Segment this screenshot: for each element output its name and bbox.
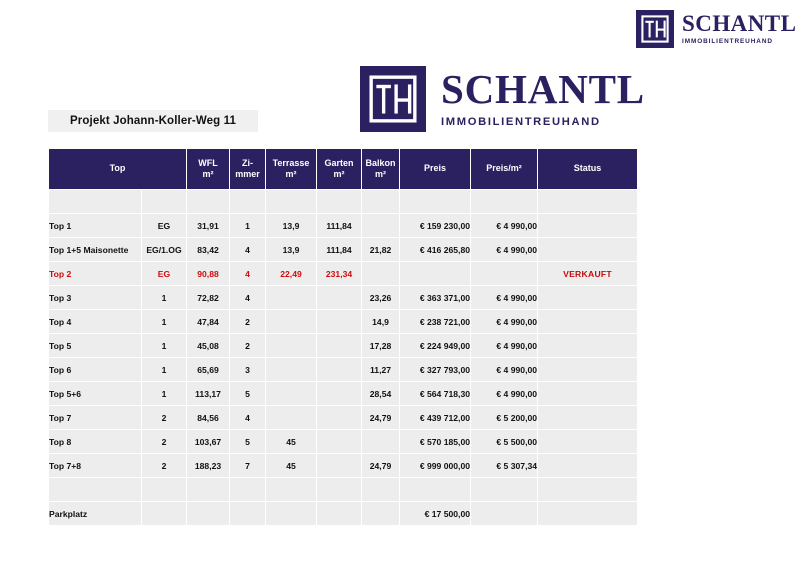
cell-terrasse: 45 bbox=[266, 454, 316, 477]
cell-preis: € 238 721,00 bbox=[400, 310, 470, 333]
cell-terrasse bbox=[266, 334, 316, 357]
table-body: Top 1EG31,91113,9111,84€ 159 230,00€ 4 9… bbox=[49, 190, 637, 525]
cell-zimmer: 4 bbox=[230, 238, 265, 261]
cell-terrasse bbox=[266, 358, 316, 381]
column-header-wfl-line1: WFL bbox=[198, 158, 218, 168]
cell-wfl: 45,08 bbox=[187, 334, 229, 357]
cell-top: Top 2 bbox=[49, 262, 141, 285]
cell-zimmer: 2 bbox=[230, 310, 265, 333]
cell-top: Top 4 bbox=[49, 310, 141, 333]
cell-top: Top 1+5 Maisonette bbox=[49, 238, 141, 261]
cell-wfl bbox=[187, 502, 229, 525]
cell-zimmer: 3 bbox=[230, 358, 265, 381]
cell-status bbox=[538, 190, 637, 213]
cell-zimmer: 5 bbox=[230, 430, 265, 453]
table-row: Top 1EG31,91113,9111,84€ 159 230,00€ 4 9… bbox=[49, 214, 637, 237]
column-header-terrasse-line1: Terrasse bbox=[273, 158, 310, 168]
cell-floor: 1 bbox=[142, 334, 186, 357]
cell-floor: 2 bbox=[142, 406, 186, 429]
cell-floor: EG/1.OG bbox=[142, 238, 186, 261]
cell-top: Top 6 bbox=[49, 358, 141, 381]
cell-floor: EG bbox=[142, 214, 186, 237]
cell-top: Top 1 bbox=[49, 214, 141, 237]
cell-preis-qm: € 5 500,00 bbox=[471, 430, 537, 453]
cell-preis: € 439 712,00 bbox=[400, 406, 470, 429]
cell-preis-qm: € 4 990,00 bbox=[471, 286, 537, 309]
column-header-garten-line2: m² bbox=[334, 169, 345, 179]
cell-wfl: 83,42 bbox=[187, 238, 229, 261]
cell-balkon bbox=[362, 430, 399, 453]
cell-balkon bbox=[362, 262, 399, 285]
cell-zimmer: 4 bbox=[230, 406, 265, 429]
cell-wfl: 65,69 bbox=[187, 358, 229, 381]
cell-terrasse bbox=[266, 190, 316, 213]
cell-terrasse bbox=[266, 310, 316, 333]
cell-top: Parkplatz bbox=[49, 502, 141, 525]
cell-status bbox=[538, 310, 637, 333]
cell-balkon: 14,9 bbox=[362, 310, 399, 333]
cell-preis-qm: € 5 307,34 bbox=[471, 454, 537, 477]
cell-garten: 111,84 bbox=[317, 214, 361, 237]
cell-floor bbox=[142, 502, 186, 525]
table-row: Top 3172,82423,26€ 363 371,00€ 4 990,00 bbox=[49, 286, 637, 309]
cell-zimmer: 5 bbox=[230, 382, 265, 405]
column-header-terrasse: Terrasse m² bbox=[266, 149, 316, 189]
logo-schantl-center: SCHANTL IMMOBILIENTREUHAND bbox=[360, 66, 645, 132]
column-header-balkon-line1: Balkon bbox=[366, 158, 396, 168]
cell-wfl: 84,56 bbox=[187, 406, 229, 429]
cell-balkon bbox=[362, 478, 399, 501]
cell-garten: 231,34 bbox=[317, 262, 361, 285]
cell-top bbox=[49, 478, 141, 501]
cell-zimmer bbox=[230, 478, 265, 501]
table-spacer-row bbox=[49, 190, 637, 213]
cell-preis-qm: € 4 990,00 bbox=[471, 310, 537, 333]
cell-wfl: 47,84 bbox=[187, 310, 229, 333]
logo-brand-name: SCHANTL bbox=[441, 69, 645, 110]
column-header-garten-line1: Garten bbox=[325, 158, 354, 168]
table-row: Top 5+61113,17528,54€ 564 718,30€ 4 990,… bbox=[49, 382, 637, 405]
cell-floor bbox=[142, 190, 186, 213]
cell-zimmer bbox=[230, 502, 265, 525]
cell-preis-qm: € 4 990,00 bbox=[471, 382, 537, 405]
cell-garten bbox=[317, 190, 361, 213]
table-row: Top 5145,08217,28€ 224 949,00€ 4 990,00 bbox=[49, 334, 637, 357]
cell-preis-qm: € 4 990,00 bbox=[471, 358, 537, 381]
cell-garten bbox=[317, 502, 361, 525]
cell-garten bbox=[317, 286, 361, 309]
cell-zimmer: 7 bbox=[230, 454, 265, 477]
table-row: Top 82103,67545€ 570 185,00€ 5 500,00 bbox=[49, 430, 637, 453]
cell-wfl: 103,67 bbox=[187, 430, 229, 453]
cell-balkon: 28,54 bbox=[362, 382, 399, 405]
table-row: Top 1+5 MaisonetteEG/1.OG83,42413,9111,8… bbox=[49, 238, 637, 261]
cell-zimmer: 4 bbox=[230, 286, 265, 309]
cell-preis: € 159 230,00 bbox=[400, 214, 470, 237]
cell-balkon bbox=[362, 502, 399, 525]
cell-balkon: 24,79 bbox=[362, 454, 399, 477]
logo-brand-subtitle: IMMOBILIENTREUHAND bbox=[682, 39, 796, 45]
column-header-top: Top bbox=[49, 149, 186, 189]
cell-wfl bbox=[187, 190, 229, 213]
table-row: Top 2EG90,88422,49231,34VERKAUFT bbox=[49, 262, 637, 285]
cell-preis bbox=[400, 190, 470, 213]
cell-terrasse bbox=[266, 382, 316, 405]
cell-wfl: 188,23 bbox=[187, 454, 229, 477]
cell-preis: € 564 718,30 bbox=[400, 382, 470, 405]
cell-status bbox=[538, 406, 637, 429]
cell-terrasse: 13,9 bbox=[266, 238, 316, 261]
cell-top: Top 7+8 bbox=[49, 454, 141, 477]
cell-status bbox=[538, 430, 637, 453]
cell-balkon bbox=[362, 214, 399, 237]
cell-status bbox=[538, 358, 637, 381]
page-title: Projekt Johann-Koller-Weg 11 bbox=[48, 110, 258, 132]
cell-top: Top 3 bbox=[49, 286, 141, 309]
column-header-wfl-line2: m² bbox=[203, 169, 214, 179]
column-header-zimmer-line1: Zi- bbox=[242, 158, 253, 168]
cell-preis bbox=[400, 478, 470, 501]
cell-terrasse: 13,9 bbox=[266, 214, 316, 237]
cell-preis-qm bbox=[471, 190, 537, 213]
logo-brand-subtitle: IMMOBILIENTREUHAND bbox=[441, 117, 645, 128]
cell-status bbox=[538, 286, 637, 309]
cell-wfl bbox=[187, 478, 229, 501]
column-header-balkon-line2: m² bbox=[375, 169, 386, 179]
cell-garten bbox=[317, 358, 361, 381]
cell-floor: 2 bbox=[142, 430, 186, 453]
cell-status: VERKAUFT bbox=[538, 262, 637, 285]
cell-floor: 1 bbox=[142, 382, 186, 405]
cell-balkon: 17,28 bbox=[362, 334, 399, 357]
cell-top bbox=[49, 190, 141, 213]
cell-garten bbox=[317, 310, 361, 333]
table-row: Parkplatz€ 17 500,00 bbox=[49, 502, 637, 525]
cell-zimmer: 2 bbox=[230, 334, 265, 357]
cell-terrasse bbox=[266, 406, 316, 429]
cell-garten bbox=[317, 454, 361, 477]
cell-wfl: 31,91 bbox=[187, 214, 229, 237]
table-row: Top 7+82188,2374524,79€ 999 000,00€ 5 30… bbox=[49, 454, 637, 477]
cell-preis-qm: € 5 200,00 bbox=[471, 406, 537, 429]
cell-balkon: 11,27 bbox=[362, 358, 399, 381]
ith-monogram-icon bbox=[360, 66, 426, 132]
cell-preis: € 224 949,00 bbox=[400, 334, 470, 357]
cell-floor: EG bbox=[142, 262, 186, 285]
cell-zimmer: 1 bbox=[230, 214, 265, 237]
column-header-status: Status bbox=[538, 149, 637, 189]
table-row: Top 4147,84214,9€ 238 721,00€ 4 990,00 bbox=[49, 310, 637, 333]
cell-garten bbox=[317, 406, 361, 429]
column-header-terrasse-line2: m² bbox=[286, 169, 297, 179]
cell-terrasse bbox=[266, 478, 316, 501]
cell-preis: € 416 265,80 bbox=[400, 238, 470, 261]
logo-schantl-topright: SCHANTL IMMOBILIENTREUHAND bbox=[636, 10, 796, 48]
cell-preis: € 999 000,00 bbox=[400, 454, 470, 477]
cell-preis-qm: € 4 990,00 bbox=[471, 238, 537, 261]
cell-floor bbox=[142, 478, 186, 501]
cell-floor: 1 bbox=[142, 286, 186, 309]
cell-balkon: 23,26 bbox=[362, 286, 399, 309]
cell-status bbox=[538, 478, 637, 501]
cell-status bbox=[538, 502, 637, 525]
cell-wfl: 90,88 bbox=[187, 262, 229, 285]
cell-terrasse: 45 bbox=[266, 430, 316, 453]
cell-top: Top 5 bbox=[49, 334, 141, 357]
cell-preis: € 363 371,00 bbox=[400, 286, 470, 309]
cell-status bbox=[538, 454, 637, 477]
cell-status bbox=[538, 382, 637, 405]
table-row: Top 6165,69311,27€ 327 793,00€ 4 990,00 bbox=[49, 358, 637, 381]
table-row: Top 7284,56424,79€ 439 712,00€ 5 200,00 bbox=[49, 406, 637, 429]
cell-floor: 1 bbox=[142, 310, 186, 333]
cell-preis: € 327 793,00 bbox=[400, 358, 470, 381]
cell-preis: € 570 185,00 bbox=[400, 430, 470, 453]
column-header-preis-pro-qm: Preis/m² bbox=[471, 149, 537, 189]
logo-brand-name: SCHANTL bbox=[682, 12, 796, 35]
column-header-balkon: Balkon m² bbox=[362, 149, 399, 189]
cell-garten: 111,84 bbox=[317, 238, 361, 261]
cell-preis bbox=[400, 262, 470, 285]
cell-garten bbox=[317, 478, 361, 501]
cell-garten bbox=[317, 382, 361, 405]
cell-garten bbox=[317, 334, 361, 357]
cell-floor: 1 bbox=[142, 358, 186, 381]
cell-preis-qm bbox=[471, 502, 537, 525]
column-header-garten: Garten m² bbox=[317, 149, 361, 189]
cell-wfl: 113,17 bbox=[187, 382, 229, 405]
column-header-zimmer: Zi- mmer bbox=[230, 149, 265, 189]
cell-preis-qm: € 4 990,00 bbox=[471, 214, 537, 237]
logo-text-block: SCHANTL IMMOBILIENTREUHAND bbox=[441, 69, 645, 128]
cell-floor: 2 bbox=[142, 454, 186, 477]
cell-status bbox=[538, 238, 637, 261]
cell-balkon bbox=[362, 190, 399, 213]
cell-preis-qm bbox=[471, 262, 537, 285]
unit-price-table: Top WFL m² Zi- mmer Terrasse m² Garten m… bbox=[48, 148, 638, 526]
cell-balkon: 24,79 bbox=[362, 406, 399, 429]
cell-zimmer: 4 bbox=[230, 262, 265, 285]
cell-garten bbox=[317, 430, 361, 453]
cell-top: Top 7 bbox=[49, 406, 141, 429]
cell-wfl: 72,82 bbox=[187, 286, 229, 309]
column-header-zimmer-line2: mmer bbox=[235, 169, 260, 179]
cell-preis-qm: € 4 990,00 bbox=[471, 334, 537, 357]
cell-top: Top 5+6 bbox=[49, 382, 141, 405]
cell-terrasse: 22,49 bbox=[266, 262, 316, 285]
cell-preis-qm bbox=[471, 478, 537, 501]
cell-zimmer bbox=[230, 190, 265, 213]
cell-terrasse bbox=[266, 286, 316, 309]
ith-monogram-icon bbox=[636, 10, 674, 48]
cell-status bbox=[538, 334, 637, 357]
table-header-row: Top WFL m² Zi- mmer Terrasse m² Garten m… bbox=[49, 149, 637, 189]
logo-text-block: SCHANTL IMMOBILIENTREUHAND bbox=[682, 12, 796, 45]
table-spacer-row bbox=[49, 478, 637, 501]
cell-top: Top 8 bbox=[49, 430, 141, 453]
cell-terrasse bbox=[266, 502, 316, 525]
cell-balkon: 21,82 bbox=[362, 238, 399, 261]
cell-status bbox=[538, 214, 637, 237]
cell-preis: € 17 500,00 bbox=[400, 502, 470, 525]
column-header-wfl: WFL m² bbox=[187, 149, 229, 189]
column-header-preis: Preis bbox=[400, 149, 470, 189]
